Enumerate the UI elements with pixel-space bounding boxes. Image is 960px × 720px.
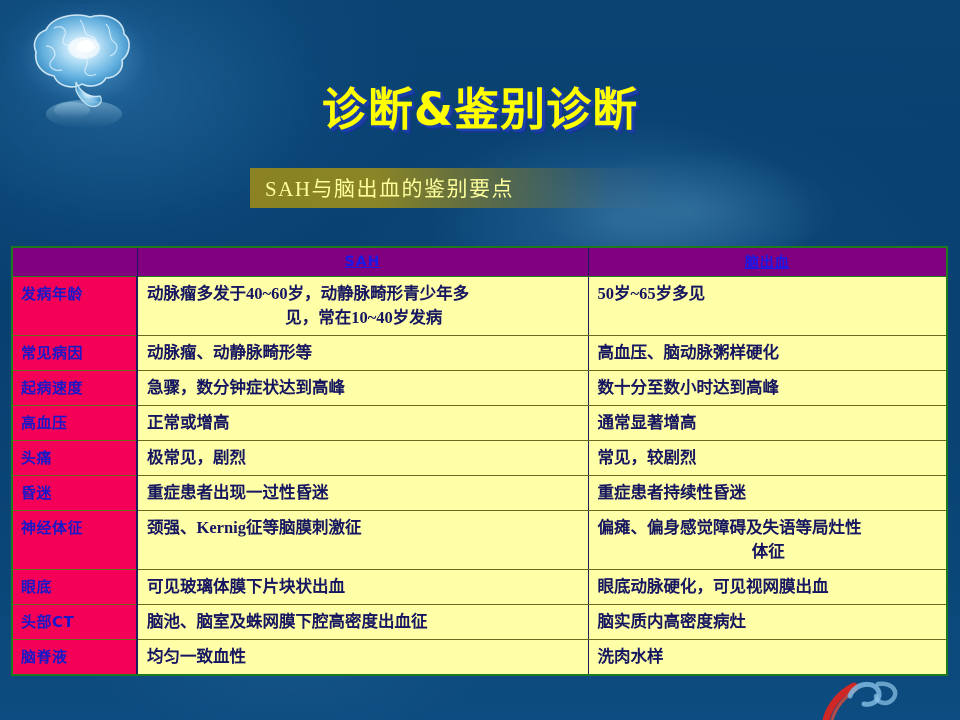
row-ich-cell: 高血压、脑动脉粥样硬化 — [588, 335, 946, 370]
row-sah-cell: 均匀一致血性 — [137, 639, 588, 674]
comparison-table: SAH 脑出血 发病年龄 动脉瘤多发于40~60岁，动静脉畸形青少年多 见，常在… — [13, 248, 946, 674]
row-label: 眼底 — [13, 569, 137, 604]
cell-line: 洗肉水样 — [598, 645, 940, 669]
table-row: 脑脊液 均匀一致血性 洗肉水样 — [13, 639, 946, 674]
table-row: 眼底 可见玻璃体膜下片块状出血 眼底动脉硬化，可见视网膜出血 — [13, 569, 946, 604]
row-label: 起病速度 — [13, 370, 137, 405]
row-ich-cell: 常见，较剧烈 — [588, 440, 946, 475]
table-header-sah-label: SAH — [345, 254, 381, 270]
row-label: 发病年龄 — [13, 276, 137, 335]
row-label: 头部CT — [13, 604, 137, 639]
table-row: 头痛 极常见，剧烈 常见，较剧烈 — [13, 440, 946, 475]
table-header-ich: 脑出血 — [588, 248, 946, 276]
slide-title: 诊断&鉴别诊断 — [270, 83, 690, 137]
row-ich-cell: 脑实质内高密度病灶 — [588, 604, 946, 639]
cell-line: 50岁~65岁多见 — [598, 282, 940, 306]
row-ich-cell: 眼底动脉硬化，可见视网膜出血 — [588, 569, 946, 604]
table-row: 头部CT 脑池、脑室及蛛网膜下腔高密度出血征 脑实质内高密度病灶 — [13, 604, 946, 639]
cell-line: 偏瘫、偏身感觉障碍及失语等局灶性 — [598, 516, 940, 540]
row-label: 常见病因 — [13, 335, 137, 370]
cell-line: 脑实质内高密度病灶 — [598, 610, 940, 634]
row-sah-cell: 正常或增高 — [137, 405, 588, 440]
cell-line: 眼底动脉硬化，可见视网膜出血 — [598, 575, 940, 599]
cell-line: 体征 — [598, 540, 940, 564]
row-label: 神经体征 — [13, 510, 137, 569]
row-sah-cell: 脑池、脑室及蛛网膜下腔高密度出血征 — [137, 604, 588, 639]
table-header-sah: SAH — [137, 248, 588, 276]
row-label: 昏迷 — [13, 475, 137, 510]
cell-line: 急骤，数分钟症状达到高峰 — [147, 376, 581, 400]
cell-line: 高血压、脑动脉粥样硬化 — [598, 341, 940, 365]
cell-line: 极常见，剧烈 — [147, 446, 581, 470]
row-sah-cell: 可见玻璃体膜下片块状出血 — [137, 569, 588, 604]
row-ich-cell: 偏瘫、偏身感觉障碍及失语等局灶性 体征 — [588, 510, 946, 569]
cell-line: 常见，较剧烈 — [598, 446, 940, 470]
corner-logo — [820, 678, 950, 720]
table-row: 常见病因 动脉瘤、动静脉畸形等 高血压、脑动脉粥样硬化 — [13, 335, 946, 370]
subtitle-bar: SAH与脑出血的鉴别要点 — [250, 168, 670, 208]
row-label: 高血压 — [13, 405, 137, 440]
row-sah-cell: 动脉瘤多发于40~60岁，动静脉畸形青少年多 见，常在10~40岁发病 — [137, 276, 588, 335]
table-header-blank — [13, 248, 137, 276]
cell-line: 重症患者持续性昏迷 — [598, 481, 940, 505]
cell-line: 动脉瘤多发于40~60岁，动静脉畸形青少年多 — [147, 282, 581, 306]
table-header-ich-label: 脑出血 — [745, 255, 790, 271]
table-row: 神经体征 颈强、Kernig征等脑膜刺激征 偏瘫、偏身感觉障碍及失语等局灶性 体… — [13, 510, 946, 569]
brain-icon — [6, 4, 156, 134]
row-ich-cell: 50岁~65岁多见 — [588, 276, 946, 335]
row-ich-cell: 通常显著增高 — [588, 405, 946, 440]
brain-illustration — [6, 4, 156, 134]
cell-line: 可见玻璃体膜下片块状出血 — [147, 575, 581, 599]
cell-line: 通常显著增高 — [598, 411, 940, 435]
cell-line: 见，常在10~40岁发病 — [147, 306, 581, 330]
cell-line: 正常或增高 — [147, 411, 581, 435]
row-ich-cell: 数十分至数小时达到高峰 — [588, 370, 946, 405]
row-ich-cell: 重症患者持续性昏迷 — [588, 475, 946, 510]
row-sah-cell: 重症患者出现一过性昏迷 — [137, 475, 588, 510]
table-row: 昏迷 重症患者出现一过性昏迷 重症患者持续性昏迷 — [13, 475, 946, 510]
row-label: 头痛 — [13, 440, 137, 475]
cell-line: 动脉瘤、动静脉畸形等 — [147, 341, 581, 365]
subtitle-text: SAH与脑出血的鉴别要点 — [250, 173, 514, 203]
cell-line: 脑池、脑室及蛛网膜下腔高密度出血征 — [147, 610, 581, 634]
row-sah-cell: 急骤，数分钟症状达到高峰 — [137, 370, 588, 405]
cell-line: 均匀一致血性 — [147, 645, 581, 669]
corner-logo-icon — [820, 678, 950, 720]
table-row: 发病年龄 动脉瘤多发于40~60岁，动静脉畸形青少年多 见，常在10~40岁发病… — [13, 276, 946, 335]
cell-line: 数十分至数小时达到高峰 — [598, 376, 940, 400]
table-header: SAH 脑出血 — [13, 248, 946, 276]
table-body: 发病年龄 动脉瘤多发于40~60岁，动静脉畸形青少年多 见，常在10~40岁发病… — [13, 276, 946, 674]
table-row: 起病速度 急骤，数分钟症状达到高峰 数十分至数小时达到高峰 — [13, 370, 946, 405]
comparison-table-container: SAH 脑出血 发病年龄 动脉瘤多发于40~60岁，动静脉畸形青少年多 见，常在… — [11, 246, 948, 676]
row-label: 脑脊液 — [13, 639, 137, 674]
slide-canvas: 诊断&鉴别诊断 SAH与脑出血的鉴别要点 SAH 脑出血 — [0, 0, 960, 720]
table-row: 高血压 正常或增高 通常显著增高 — [13, 405, 946, 440]
row-sah-cell: 颈强、Kernig征等脑膜刺激征 — [137, 510, 588, 569]
cell-line: 颈强、Kernig征等脑膜刺激征 — [147, 516, 581, 540]
row-sah-cell: 动脉瘤、动静脉畸形等 — [137, 335, 588, 370]
cell-line: 重症患者出现一过性昏迷 — [147, 481, 581, 505]
row-ich-cell: 洗肉水样 — [588, 639, 946, 674]
row-sah-cell: 极常见，剧烈 — [137, 440, 588, 475]
table-header-row: SAH 脑出血 — [13, 248, 946, 276]
